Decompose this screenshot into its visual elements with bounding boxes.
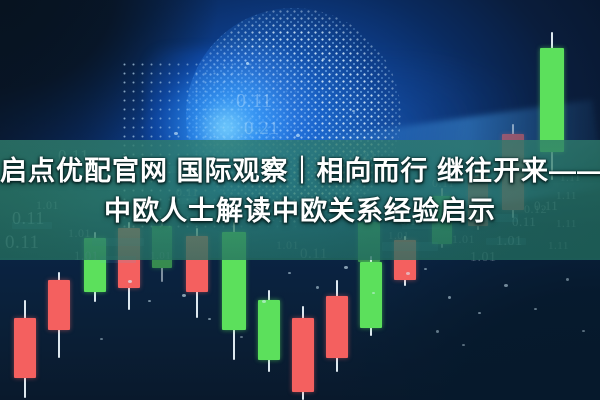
candlestick-body xyxy=(360,262,382,328)
headline-line-2: 中欧人士解读中欧关系经验启示 xyxy=(0,192,600,230)
candlestick xyxy=(292,306,314,400)
candlestick-body xyxy=(326,296,348,358)
candlestick-body xyxy=(258,300,280,360)
candlestick xyxy=(14,300,36,398)
candlestick xyxy=(258,290,280,372)
candlestick xyxy=(360,256,382,336)
candlestick-body xyxy=(14,318,36,378)
headline-line-1: 启点优配官网 国际观察｜相向而行 继往开来—— xyxy=(0,152,600,190)
headline-block: 启点优配官网 国际观察｜相向而行 继往开来—— 中欧人士解读中欧关系经验启示 xyxy=(0,152,600,230)
candlestick xyxy=(48,272,70,358)
candlestick xyxy=(326,280,348,372)
candlestick-body xyxy=(540,48,564,152)
news-banner: 0.111.010.110.111.011.011.011.010.111.01… xyxy=(0,0,600,400)
candlestick-body xyxy=(48,280,70,330)
candlestick-body xyxy=(292,318,314,392)
